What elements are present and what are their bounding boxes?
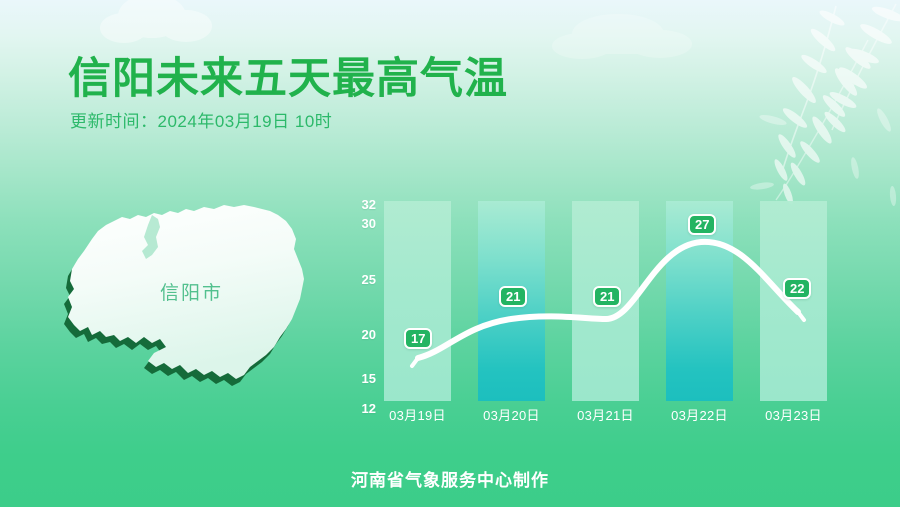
page-title: 信阳未来五天最高气温	[68, 44, 508, 106]
value-badge-0321: 21	[593, 286, 621, 307]
footer-credit: 河南省气象服务中心制作	[0, 466, 900, 491]
temperature-chart: 32 30 25 20 15 12 03月19日 03月20日 03月21日 0…	[336, 186, 866, 426]
map-region-label: 信阳市	[160, 278, 223, 305]
value-badge-0323: 22	[783, 278, 811, 299]
weather-poster: 信阳未来五天最高气温 更新时间：2024年03月19日 10时 信阳市	[0, 0, 900, 507]
value-badge-0320: 21	[499, 286, 527, 307]
value-badge-0322: 27	[688, 214, 716, 235]
value-badge-0319: 17	[404, 328, 432, 349]
update-time-text: 更新时间：2024年03月19日 10时	[70, 107, 332, 132]
